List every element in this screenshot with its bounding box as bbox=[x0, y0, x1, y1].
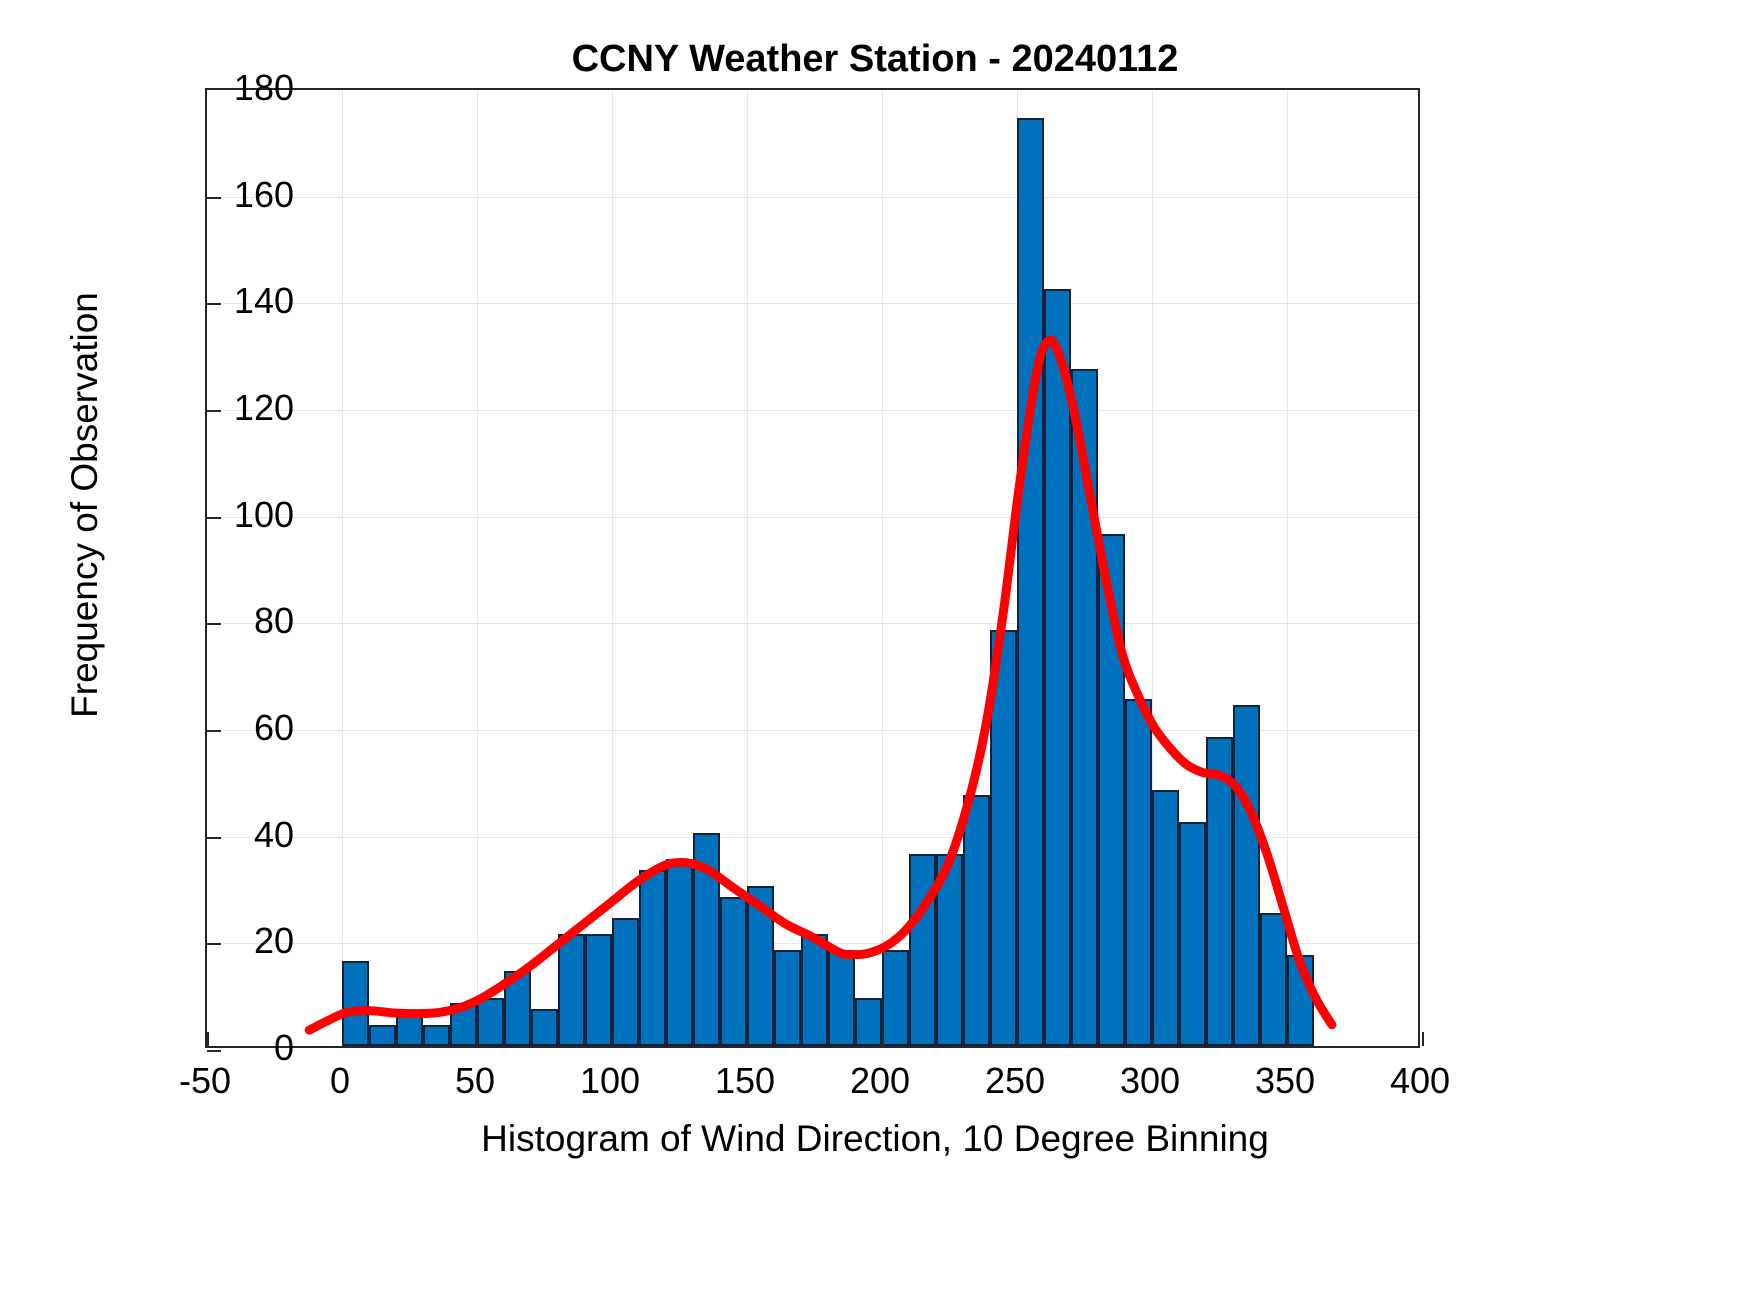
x-tick-label: 350 bbox=[1255, 1060, 1315, 1102]
x-axis-tick bbox=[1017, 1032, 1019, 1046]
gridline-vertical bbox=[612, 90, 613, 1046]
plot-inner bbox=[207, 90, 1418, 1046]
histogram-bar bbox=[1044, 289, 1071, 1046]
y-tick-label: 40 bbox=[254, 814, 294, 856]
histogram-bar bbox=[747, 886, 774, 1046]
histogram-bar bbox=[450, 1003, 477, 1046]
y-axis-tick bbox=[207, 410, 221, 412]
x-tick-label: 100 bbox=[580, 1060, 640, 1102]
y-tick-label: 180 bbox=[234, 67, 294, 109]
y-axis-tick bbox=[207, 197, 221, 199]
y-axis-tick bbox=[207, 623, 221, 625]
gridline-vertical bbox=[342, 90, 343, 1046]
histogram-bar bbox=[1098, 534, 1125, 1046]
histogram-bar bbox=[342, 961, 369, 1046]
gridline-vertical bbox=[477, 90, 478, 1046]
x-axis-tick bbox=[747, 1032, 749, 1046]
gridline-horizontal bbox=[207, 517, 1418, 518]
y-axis-tick bbox=[207, 730, 221, 732]
x-tick-label: 300 bbox=[1120, 1060, 1180, 1102]
histogram-bar bbox=[990, 630, 1017, 1046]
chart-figure: CCNY Weather Station - 20240112 02040608… bbox=[0, 0, 1750, 1313]
y-axis-tick bbox=[207, 837, 221, 839]
histogram-bar bbox=[369, 1025, 396, 1046]
x-tick-label: 400 bbox=[1390, 1060, 1450, 1102]
y-tick-label: 20 bbox=[254, 920, 294, 962]
histogram-bar bbox=[396, 1014, 423, 1046]
histogram-bar bbox=[1260, 913, 1287, 1046]
x-tick-label: 200 bbox=[850, 1060, 910, 1102]
histogram-bar bbox=[936, 854, 963, 1046]
x-axis-tick bbox=[612, 1032, 614, 1046]
y-tick-label: 80 bbox=[254, 600, 294, 642]
gridline-horizontal bbox=[207, 197, 1418, 198]
histogram-bar bbox=[828, 950, 855, 1046]
histogram-bar bbox=[423, 1025, 450, 1046]
histogram-bar bbox=[1125, 699, 1152, 1046]
plot-area bbox=[205, 88, 1420, 1048]
y-axis-tick bbox=[207, 943, 221, 945]
y-tick-label: 0 bbox=[274, 1027, 294, 1069]
gridline-vertical bbox=[1287, 90, 1288, 1046]
histogram-bar bbox=[720, 897, 747, 1046]
histogram-bar bbox=[585, 934, 612, 1046]
gridline-vertical bbox=[882, 90, 883, 1046]
histogram-bar bbox=[909, 854, 936, 1046]
histogram-bar bbox=[612, 918, 639, 1046]
x-tick-label: 0 bbox=[330, 1060, 350, 1102]
y-tick-label: 160 bbox=[234, 174, 294, 216]
histogram-bar bbox=[1071, 369, 1098, 1046]
histogram-bar bbox=[1206, 737, 1233, 1046]
y-axis-tick bbox=[207, 517, 221, 519]
y-axis-title: Frequency of Observation bbox=[64, 25, 106, 985]
x-axis-tick bbox=[477, 1032, 479, 1046]
x-tick-label: 150 bbox=[715, 1060, 775, 1102]
histogram-bar bbox=[1179, 822, 1206, 1046]
x-axis-title: Histogram of Wind Direction, 10 Degree B… bbox=[0, 1118, 1750, 1160]
histogram-bar bbox=[774, 950, 801, 1046]
x-axis-tick bbox=[207, 1032, 209, 1046]
histogram-bar bbox=[1017, 118, 1044, 1046]
y-tick-label: 120 bbox=[234, 387, 294, 429]
histogram-bar bbox=[1233, 705, 1260, 1046]
histogram-bar bbox=[477, 998, 504, 1046]
x-tick-label: 250 bbox=[985, 1060, 1045, 1102]
x-tick-label: -50 bbox=[179, 1060, 231, 1102]
histogram-bar bbox=[693, 833, 720, 1046]
histogram-bar bbox=[882, 950, 909, 1046]
histogram-bar bbox=[531, 1009, 558, 1046]
x-axis-tick bbox=[882, 1032, 884, 1046]
histogram-bar bbox=[801, 934, 828, 1046]
histogram-bar bbox=[639, 870, 666, 1046]
histogram-bar bbox=[1152, 790, 1179, 1046]
histogram-bar bbox=[1287, 955, 1314, 1046]
x-axis-tick bbox=[1422, 1032, 1424, 1046]
y-tick-label: 60 bbox=[254, 707, 294, 749]
x-axis-tick bbox=[1287, 1032, 1289, 1046]
x-axis-tick bbox=[342, 1032, 344, 1046]
y-tick-label: 100 bbox=[234, 494, 294, 536]
histogram-bar bbox=[558, 934, 585, 1046]
gridline-horizontal bbox=[207, 623, 1418, 624]
gridline-horizontal bbox=[207, 303, 1418, 304]
histogram-bar bbox=[504, 971, 531, 1046]
gridline-horizontal bbox=[207, 410, 1418, 411]
x-tick-label: 50 bbox=[455, 1060, 495, 1102]
x-axis-tick bbox=[1152, 1032, 1154, 1046]
histogram-bar bbox=[963, 795, 990, 1046]
histogram-bar bbox=[855, 998, 882, 1046]
y-axis-tick bbox=[207, 1050, 221, 1052]
histogram-bar bbox=[666, 859, 693, 1046]
y-tick-label: 140 bbox=[234, 280, 294, 322]
y-axis-tick bbox=[207, 303, 221, 305]
